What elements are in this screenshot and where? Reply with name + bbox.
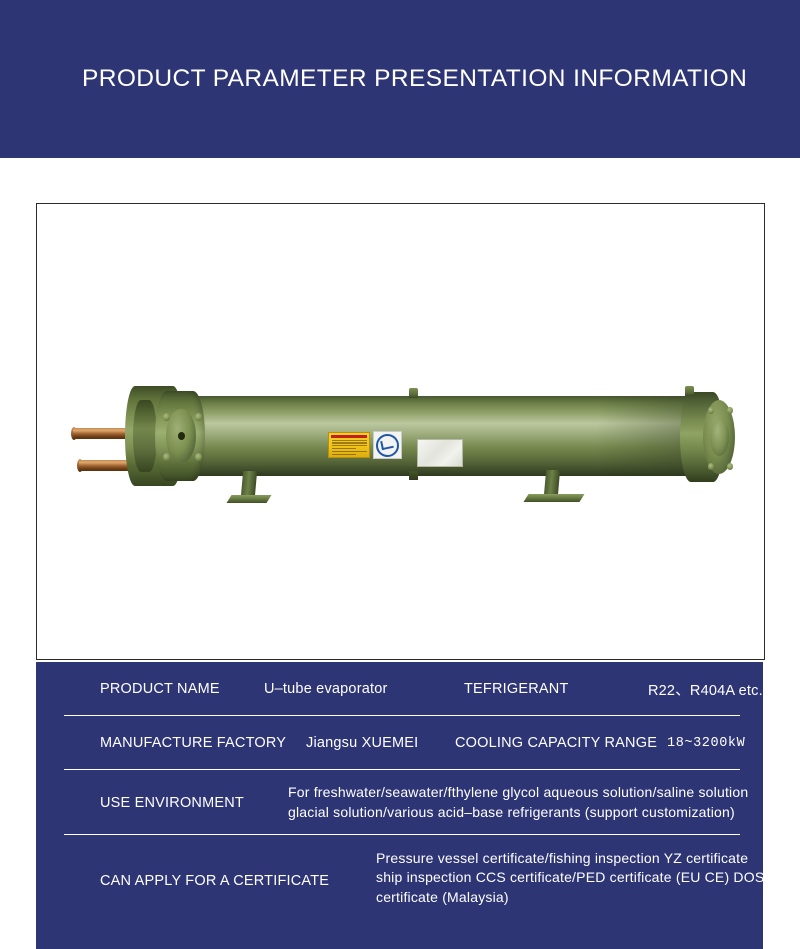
warning-label-line xyxy=(332,448,356,449)
spec-value-refrigerant: R22、R404A etc. xyxy=(648,679,763,700)
left-head-ring xyxy=(133,400,157,472)
bottom-nozzle xyxy=(409,471,418,480)
right-end-cap-disc xyxy=(710,418,729,456)
top-nozzle xyxy=(409,388,418,398)
certification-mark-glyph xyxy=(376,434,399,457)
support-leg-foot xyxy=(524,494,585,502)
table-row: CAN APPLY FOR A CERTIFICATE Pressure ves… xyxy=(36,835,763,927)
spec-label-use-environment: USE ENVIRONMENT xyxy=(100,795,244,811)
warning-label-line xyxy=(332,440,367,441)
spec-value-product-name: U–tube evaporator xyxy=(264,681,388,697)
support-leg xyxy=(229,471,269,505)
table-row: USE ENVIRONMENT For freshwater/seawater/… xyxy=(36,770,763,835)
warning-label-line xyxy=(332,451,367,452)
spec-value-manufacture-factory: Jiangsu XUEMEI xyxy=(306,735,418,751)
warning-label-icon xyxy=(328,432,370,458)
spec-label-cooling-capacity-range: COOLING CAPACITY RANGE xyxy=(455,735,657,751)
flange-bolt xyxy=(195,453,202,461)
spec-value-use-environment: For freshwater/seawater/fthylene glycol … xyxy=(288,783,778,822)
spec-value-certificate: Pressure vessel certificate/fishing insp… xyxy=(376,849,776,907)
warning-label-line xyxy=(332,454,356,455)
flange-bolt xyxy=(708,463,714,470)
support-leg xyxy=(532,470,572,504)
page-title: PRODUCT PARAMETER PRESENTATION INFORMATI… xyxy=(82,65,747,93)
spec-value-cooling-capacity-range: 18~3200kW xyxy=(667,736,745,751)
flange-bolt xyxy=(727,463,733,470)
product-image-panel xyxy=(36,203,765,660)
flange-bolt xyxy=(708,407,714,414)
support-leg-web xyxy=(544,470,560,496)
warning-label-title-bar xyxy=(331,435,367,439)
table-row: PRODUCT NAME U–tube evaporator TEFRIGERA… xyxy=(36,662,763,716)
spec-label-certificate: CAN APPLY FOR A CERTIFICATE xyxy=(100,873,329,889)
top-nozzle xyxy=(685,386,694,396)
support-leg-web xyxy=(241,471,257,497)
flange-bolt xyxy=(727,407,733,414)
specification-table: PRODUCT NAME U–tube evaporator TEFRIGERA… xyxy=(36,662,763,949)
flange-bolt xyxy=(163,453,170,461)
flange-bolt xyxy=(195,413,202,421)
warning-label-line xyxy=(332,445,367,446)
certification-badge-icon xyxy=(373,431,402,459)
spec-label-manufacture-factory: MANUFACTURE FACTORY xyxy=(100,735,286,751)
flange-bolt xyxy=(163,413,170,421)
blank-nameplate xyxy=(417,439,463,467)
page-header-band: PRODUCT PARAMETER PRESENTATION INFORMATI… xyxy=(0,0,800,158)
product-photo xyxy=(37,204,764,659)
table-row: MANUFACTURE FACTORY Jiangsu XUEMEI COOLI… xyxy=(36,716,763,770)
left-end-cap-center-port xyxy=(178,432,185,440)
warning-label-line xyxy=(332,442,367,443)
spec-label-refrigerant: TEFRIGERANT xyxy=(464,681,569,697)
spec-label-product-name: PRODUCT NAME xyxy=(100,681,220,697)
support-leg-foot xyxy=(227,495,272,503)
